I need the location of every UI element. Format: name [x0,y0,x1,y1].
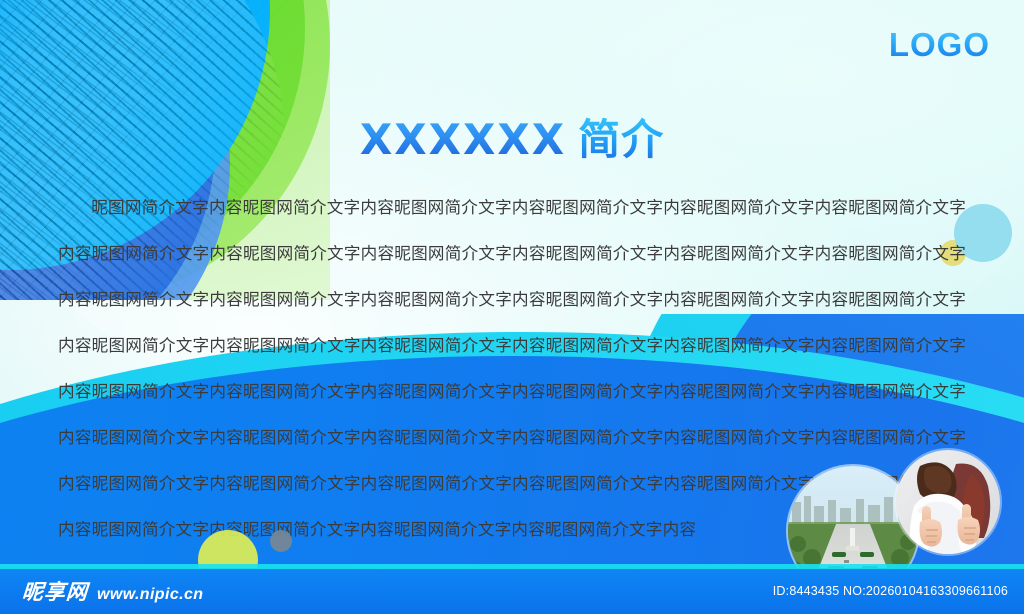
logo[interactable]: LOGO [889,26,990,64]
photo-thumbs-up-people [896,450,1000,554]
brand-name-cn: 昵享网 [21,576,89,606]
people-photo-illustration [896,450,1000,554]
site-brand[interactable]: 昵享网 www.nipic.cn [22,576,203,606]
decorative-dot-gray [270,530,292,552]
image-id-line: ID:8443435 NO:20260104163309661106 [773,584,1008,598]
footer-cyan-edge [0,564,1024,569]
footer-bar: 昵享网 www.nipic.cn ID:8443435 NO:202601041… [0,568,1024,614]
title-prefix: XXXXXX [360,115,566,164]
page-title: XXXXXX简介 [0,106,1024,167]
brand-url: www.nipic.cn [97,586,203,604]
poster-canvas: LOGO XXXXXX简介 昵图网简介文字内容昵图网简介文字内容昵图网简介文字内… [0,0,1024,614]
title-suffix: 简介 [578,115,664,164]
